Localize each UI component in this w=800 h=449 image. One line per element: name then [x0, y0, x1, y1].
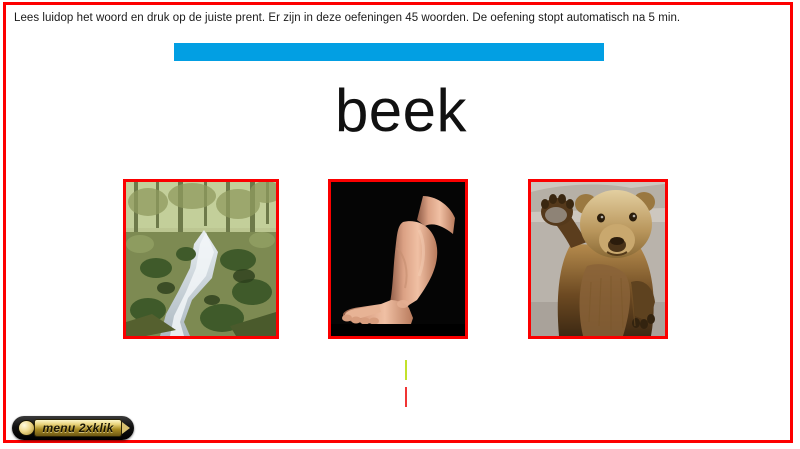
- menu-arrow-icon: [122, 422, 130, 434]
- picture-choice-leg[interactable]: [328, 179, 468, 339]
- menu-button-label: menu 2xklik: [35, 421, 121, 435]
- correct-mark-icon: [405, 360, 407, 380]
- leg-photo-icon: [331, 182, 465, 336]
- menu-knob-icon: [18, 420, 35, 436]
- exercise-stage-frame: Lees luidop het woord en druk op de juis…: [3, 2, 793, 443]
- exercise-screen: Lees luidop het woord en druk op de juis…: [0, 0, 800, 449]
- incorrect-mark-icon: [405, 387, 407, 407]
- picture-choice-stream[interactable]: [123, 179, 279, 339]
- timer-progress-bar: [174, 43, 604, 61]
- picture-choice-bear[interactable]: [528, 179, 668, 339]
- stream-photo-icon: [126, 182, 276, 336]
- menu-button[interactable]: menu 2xklik: [12, 416, 134, 440]
- answer-feedback-marks: [404, 360, 410, 407]
- menu-button-plate: menu 2xklik: [34, 419, 122, 437]
- target-word: beek: [6, 78, 796, 144]
- instruction-text: Lees luidop het woord en druk op de juis…: [14, 11, 794, 25]
- timer-progress-fill: [174, 43, 604, 61]
- bear-photo-icon: [531, 182, 665, 336]
- picture-choice-row: [6, 179, 796, 339]
